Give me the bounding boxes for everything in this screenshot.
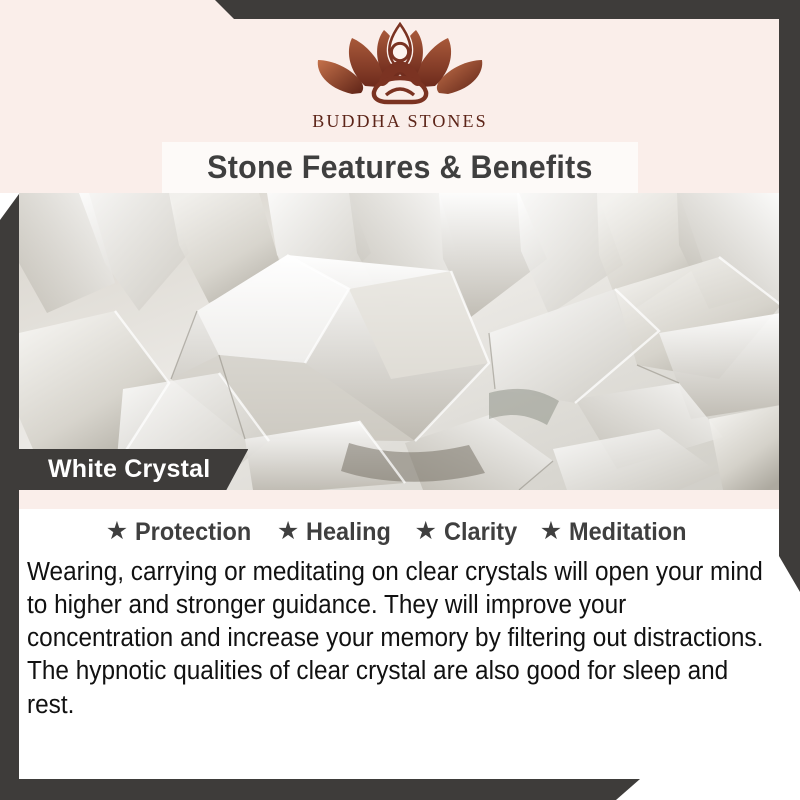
header-band: BUDDHA STONES Stone Features & Benefits [0,0,800,193]
star-icon: ★ [540,519,562,544]
frame-left-edge [0,194,19,780]
feature-item: ★ Clarity [415,518,522,547]
feature-label: Meditation [569,518,687,547]
feature-label: Clarity [444,518,517,547]
content-section: ★ Protection ★ Healing ★ Clarity ★ Medit… [19,509,781,779]
frame-bottom-edge [0,779,800,800]
feature-item: ★ Protection [106,518,259,547]
brand-name: BUDDHA STONES [312,111,488,132]
page-title-box: Stone Features & Benefits [162,142,638,193]
feature-label: Protection [135,518,251,547]
features-list: ★ Protection ★ Healing ★ Clarity ★ Medit… [19,509,781,547]
page-title: Stone Features & Benefits [207,149,593,186]
feature-item: ★ Healing [277,518,397,547]
stone-name-text: White Crystal [48,455,210,484]
stone-info-card: BUDDHA STONES Stone Features & Benefits [0,0,800,800]
feature-label: Healing [306,518,391,547]
crystal-photo-illustration [19,193,781,490]
lotus-meditation-figure-icon [312,16,488,108]
star-icon: ★ [415,519,437,544]
frame-right-edge [779,0,800,592]
stone-name-label: White Crystal [19,449,248,490]
crystal-photo [19,193,781,490]
description-text: Wearing, carrying or meditating on clear… [27,556,764,722]
feature-item: ★ Meditation [540,518,694,547]
accent-strip [19,490,781,509]
star-icon: ★ [277,519,299,544]
star-icon: ★ [106,519,128,544]
brand-logo: BUDDHA STONES [0,16,800,132]
